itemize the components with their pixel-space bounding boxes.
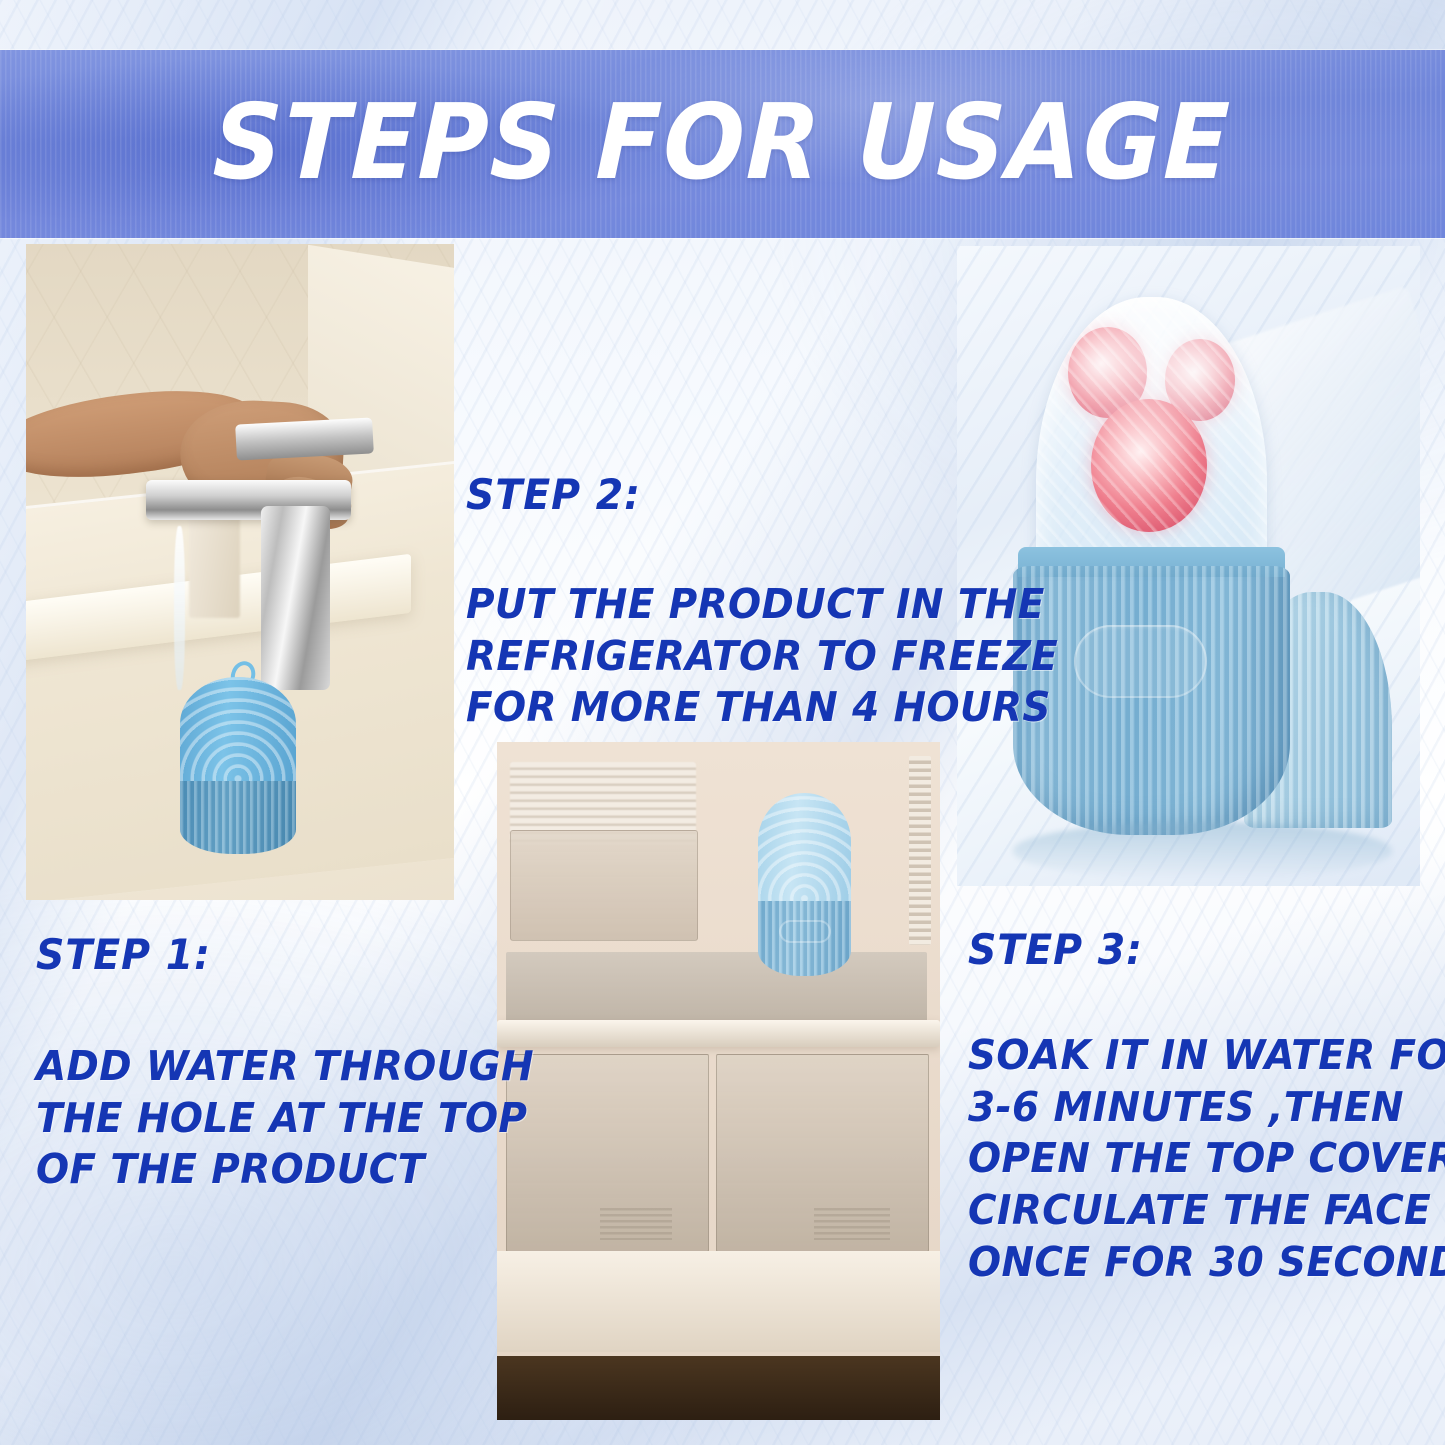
step-3-body: SOAK IT IN WATER FOR 3-6 MINUTES ,THEN O… bbox=[968, 1030, 1415, 1288]
step-2-label: STEP 2: bbox=[466, 470, 955, 519]
ice-roller-product bbox=[758, 793, 851, 976]
step-3-line: 3-6 MINUTES ,THEN bbox=[968, 1082, 1415, 1134]
fridge-upper-bin bbox=[510, 830, 698, 940]
drawer-grille bbox=[600, 1208, 673, 1239]
step-2-line: FOR MORE THAN 4 HOURS bbox=[466, 682, 960, 734]
step-1-line: ADD WATER THROUGH bbox=[36, 1041, 483, 1093]
ice-roller-cap bbox=[180, 677, 296, 783]
step-3-label: STEP 3: bbox=[968, 925, 1410, 974]
faucet-handle bbox=[235, 418, 374, 461]
step-3-line: CIRCULATE THE FACE bbox=[968, 1185, 1415, 1237]
fridge-crisper-drawer-right bbox=[716, 1054, 928, 1253]
step-3-line: SOAK IT IN WATER FOR bbox=[968, 1030, 1415, 1082]
water-stream bbox=[174, 526, 185, 690]
fridge-side-rail bbox=[909, 756, 931, 946]
drawer-grille bbox=[814, 1208, 890, 1239]
surface-reflection bbox=[1013, 822, 1393, 880]
body-logo-badge bbox=[1074, 625, 1207, 698]
cap-arc-ribs bbox=[758, 793, 851, 903]
ice-roller-base bbox=[180, 781, 296, 854]
ice-roller-base bbox=[758, 901, 851, 976]
body-vertical-ribs bbox=[1013, 566, 1291, 835]
fridge-shelf-edge bbox=[497, 1020, 940, 1047]
step-2-line: REFRIGERATOR TO FREEZE bbox=[466, 631, 960, 683]
step-3-line: ONCE FOR 30 SECONDS. bbox=[968, 1237, 1415, 1289]
step-1-body: ADD WATER THROUGH THE HOLE AT THE TOP OF… bbox=[36, 1041, 483, 1196]
step-1-label: STEP 1: bbox=[36, 930, 478, 979]
ice-roller-cap bbox=[758, 793, 851, 903]
photo-faucet-filling bbox=[26, 244, 454, 900]
photo-rose-ice-product bbox=[957, 246, 1420, 886]
photo-refrigerator bbox=[497, 742, 940, 1420]
page-title: STEPS FOR USAGE bbox=[212, 81, 1234, 203]
ice-roller-product bbox=[180, 677, 296, 854]
step-2-line: PUT THE PRODUCT IN THE bbox=[466, 579, 960, 631]
fridge-glass-shelf bbox=[506, 952, 927, 1027]
faucet-body bbox=[261, 506, 329, 690]
infographic-page: STEPS FOR USAGE bbox=[0, 0, 1445, 1445]
cap-arc-ribs bbox=[180, 677, 296, 783]
step-1-line: THE HOLE AT THE TOP bbox=[36, 1093, 483, 1145]
step-3-block: STEP 3: SOAK IT IN WATER FOR 3-6 MINUTES… bbox=[968, 925, 1438, 1288]
fridge-base-panel bbox=[497, 1251, 940, 1353]
step-2-body: PUT THE PRODUCT IN THE REFRIGERATOR TO F… bbox=[466, 579, 960, 734]
fridge-bottom-dark-bar bbox=[497, 1356, 940, 1420]
step-1-line: OF THE PRODUCT bbox=[36, 1144, 483, 1196]
step-2-block: STEP 2: PUT THE PRODUCT IN THE REFRIGERA… bbox=[466, 470, 986, 734]
base-logo-tab bbox=[779, 920, 831, 943]
fridge-crisper-drawer-left bbox=[506, 1054, 710, 1253]
ice-roller-body bbox=[1013, 566, 1291, 835]
step-3-line: OPEN THE TOP COVER. bbox=[968, 1133, 1415, 1185]
step-1-block: STEP 1: ADD WATER THROUGH THE HOLE AT TH… bbox=[36, 930, 506, 1196]
header-banner: STEPS FOR USAGE bbox=[0, 50, 1445, 238]
base-vertical-ribs bbox=[180, 781, 296, 854]
